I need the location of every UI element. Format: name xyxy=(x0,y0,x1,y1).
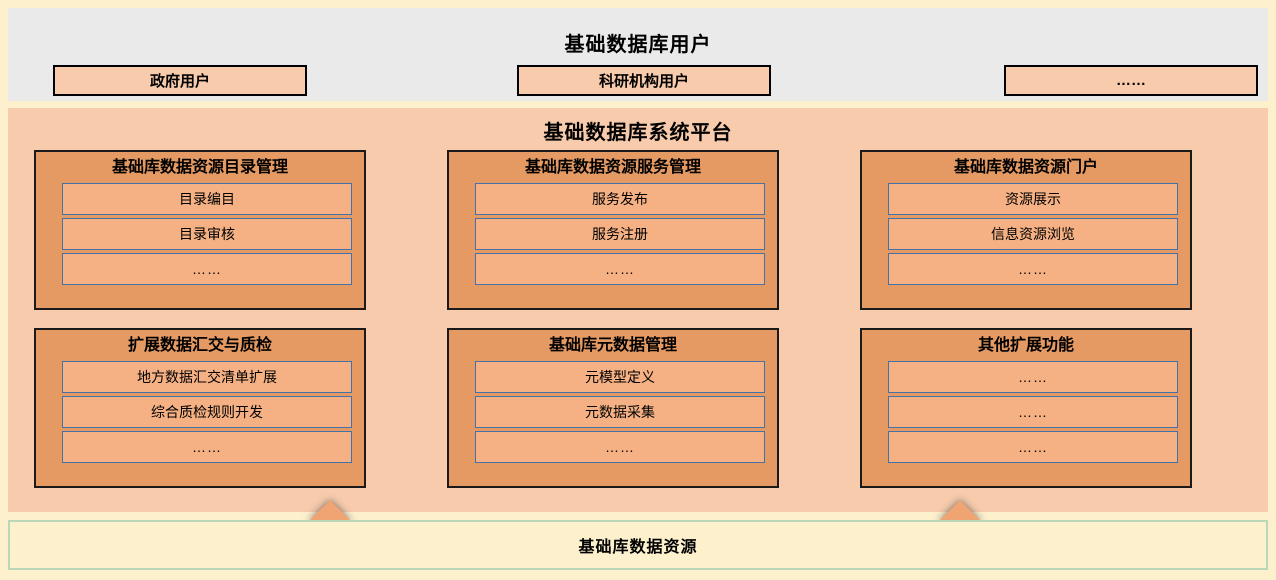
card-data-submission-quality[interactable]: 扩展数据汇交与质检 地方数据汇交清单扩展 综合质检规则开发 …… xyxy=(34,328,366,488)
card-item[interactable]: …… xyxy=(475,253,765,285)
card-resource-portal[interactable]: 基础库数据资源门户 资源展示 信息资源浏览 …… xyxy=(860,150,1192,310)
card-title: 基础库数据资源目录管理 xyxy=(48,157,352,179)
platform-layer-title: 基础数据库系统平台 xyxy=(8,116,1268,145)
card-item[interactable]: …… xyxy=(888,253,1178,285)
platform-cards-row-1: 基础库数据资源目录管理 目录编目 目录审核 …… 基础库数据资源服务管理 xyxy=(34,150,1242,310)
card-item-label: 服务注册 xyxy=(592,224,648,244)
card-item[interactable]: 服务发布 xyxy=(475,183,765,215)
card-title: 基础库数据资源服务管理 xyxy=(461,157,765,179)
card-item-label: 信息资源浏览 xyxy=(991,224,1075,244)
platform-layer-band: 基础数据库系统平台 基础库数据资源目录管理 目录编目 目录审核 …… xyxy=(8,108,1268,512)
card-item-label: 目录审核 xyxy=(179,224,235,244)
card-item-label: …… xyxy=(1018,261,1048,277)
card-item-label: 元模型定义 xyxy=(585,367,655,387)
card-item[interactable]: …… xyxy=(475,431,765,463)
card-item[interactable]: …… xyxy=(888,431,1178,463)
card-item-label: 地方数据汇交清单扩展 xyxy=(137,367,277,387)
card-item[interactable]: 资源展示 xyxy=(888,183,1178,215)
card-item-label: …… xyxy=(192,439,222,455)
user-box-label: 科研机构用户 xyxy=(599,70,689,91)
card-item[interactable]: 信息资源浏览 xyxy=(888,218,1178,250)
card-service-management[interactable]: 基础库数据资源服务管理 服务发布 服务注册 …… xyxy=(447,150,779,310)
arrow-up-icon xyxy=(938,500,982,522)
card-item-label: …… xyxy=(1018,404,1048,420)
card-item-list: 地方数据汇交清单扩展 综合质检规则开发 …… xyxy=(62,361,352,463)
user-box-others[interactable]: …… xyxy=(1004,65,1258,96)
card-item-label: 综合质检规则开发 xyxy=(151,402,263,422)
card-item[interactable]: 目录审核 xyxy=(62,218,352,250)
user-box-label: …… xyxy=(1116,72,1146,89)
card-item[interactable]: 元模型定义 xyxy=(475,361,765,393)
card-item-label: 元数据采集 xyxy=(585,402,655,422)
card-item-label: …… xyxy=(605,261,635,277)
resource-layer-title: 基础库数据资源 xyxy=(578,533,697,557)
card-item-label: …… xyxy=(1018,439,1048,455)
card-item[interactable]: …… xyxy=(62,253,352,285)
card-item-label: …… xyxy=(192,261,222,277)
card-item[interactable]: 服务注册 xyxy=(475,218,765,250)
card-item-label: 服务发布 xyxy=(592,189,648,209)
card-item[interactable]: 元数据采集 xyxy=(475,396,765,428)
card-item-label: …… xyxy=(605,439,635,455)
users-layer-title: 基础数据库用户 xyxy=(8,28,1268,57)
card-catalog-management[interactable]: 基础库数据资源目录管理 目录编目 目录审核 …… xyxy=(34,150,366,310)
resource-layer-band: 基础库数据资源 xyxy=(8,520,1268,570)
user-box-label: 政府用户 xyxy=(150,70,210,91)
card-item-label: 资源展示 xyxy=(1005,189,1061,209)
user-box-government[interactable]: 政府用户 xyxy=(53,65,307,96)
card-item[interactable]: 综合质检规则开发 xyxy=(62,396,352,428)
card-item[interactable]: 地方数据汇交清单扩展 xyxy=(62,361,352,393)
card-item-list: 目录编目 目录审核 …… xyxy=(62,183,352,285)
card-item-list: 资源展示 信息资源浏览 …… xyxy=(888,183,1178,285)
card-item-list: 元模型定义 元数据采集 …… xyxy=(475,361,765,463)
card-title: 基础库数据资源门户 xyxy=(874,157,1178,179)
card-title: 其他扩展功能 xyxy=(874,335,1178,357)
platform-cards-grid: 基础库数据资源目录管理 目录编目 目录审核 …… 基础库数据资源服务管理 xyxy=(34,150,1242,488)
card-metadata-management[interactable]: 基础库元数据管理 元模型定义 元数据采集 …… xyxy=(447,328,779,488)
card-item-label: …… xyxy=(1018,369,1048,385)
platform-cards-row-2: 扩展数据汇交与质检 地方数据汇交清单扩展 综合质检规则开发 …… 基础库元数据管… xyxy=(34,328,1242,488)
card-item-label: 目录编目 xyxy=(179,189,235,209)
card-other-extensions[interactable]: 其他扩展功能 …… …… …… xyxy=(860,328,1192,488)
card-item[interactable]: …… xyxy=(888,361,1178,393)
card-item[interactable]: …… xyxy=(888,396,1178,428)
user-box-research-institution[interactable]: 科研机构用户 xyxy=(517,65,771,96)
card-item-list: …… …… …… xyxy=(888,361,1178,463)
card-title: 基础库元数据管理 xyxy=(461,335,765,357)
card-title: 扩展数据汇交与质检 xyxy=(48,335,352,357)
card-item-list: 服务发布 服务注册 …… xyxy=(475,183,765,285)
card-item[interactable]: …… xyxy=(62,431,352,463)
card-item[interactable]: 目录编目 xyxy=(62,183,352,215)
arrow-up-icon xyxy=(308,500,352,522)
users-layer-band: 基础数据库用户 政府用户 科研机构用户 …… xyxy=(8,8,1268,101)
